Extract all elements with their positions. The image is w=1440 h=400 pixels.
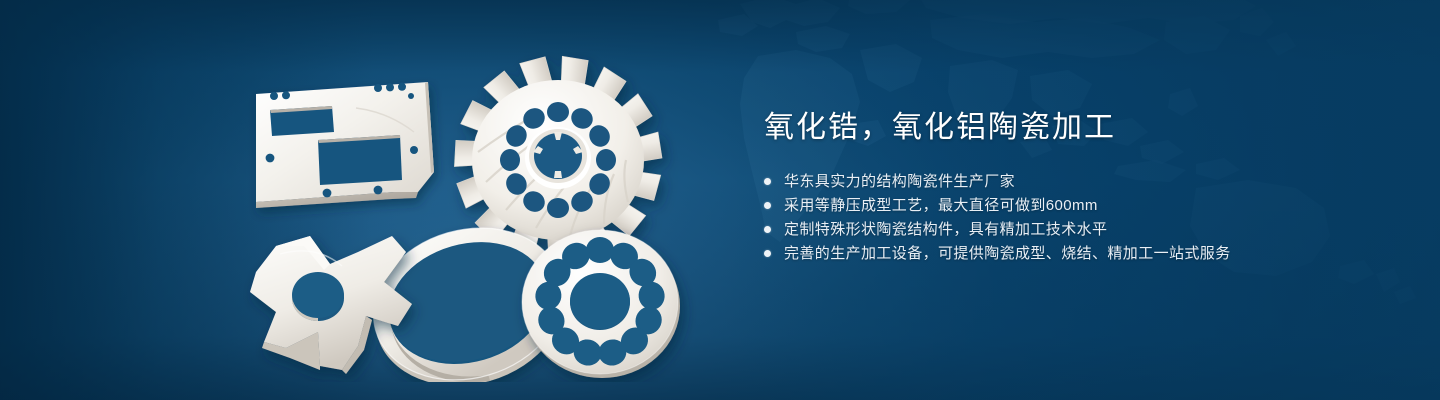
bullet-dot-icon (764, 178, 771, 185)
hero-banner: 氧化锆，氧化铝陶瓷加工 华东具实力的结构陶瓷件生产厂家 采用等静压成型工艺，最大… (0, 0, 1440, 400)
feature-text: 定制特殊形状陶瓷结构件，具有精加工技术水平 (784, 218, 1107, 241)
bullet-dot-icon (764, 250, 771, 257)
ceramic-parts-photo (228, 52, 708, 382)
list-item: 定制特殊形状陶瓷结构件，具有精加工技术水平 (764, 218, 1384, 241)
page-title: 氧化锆，氧化铝陶瓷加工 (764, 108, 1384, 148)
list-item: 完善的生产加工设备，可提供陶瓷成型、烧结、精加工一站式服务 (764, 242, 1384, 265)
feature-text: 完善的生产加工设备，可提供陶瓷成型、烧结、精加工一站式服务 (784, 242, 1231, 265)
bullet-dot-icon (764, 226, 771, 233)
feature-text: 采用等静压成型工艺，最大直径可做到600mm (784, 194, 1098, 217)
ceramic-perforated-disc-part (522, 230, 680, 378)
bullet-dot-icon (764, 202, 771, 209)
banner-text-block: 氧化锆，氧化铝陶瓷加工 华东具实力的结构陶瓷件生产厂家 采用等静压成型工艺，最大… (764, 108, 1384, 266)
list-item: 华东具实力的结构陶瓷件生产厂家 (764, 170, 1384, 193)
list-item: 采用等静压成型工艺，最大直径可做到600mm (764, 194, 1384, 217)
feature-list: 华东具实力的结构陶瓷件生产厂家 采用等静压成型工艺，最大直径可做到600mm 定… (764, 170, 1384, 265)
feature-text: 华东具实力的结构陶瓷件生产厂家 (784, 170, 1015, 193)
ceramic-plate-part (256, 82, 434, 208)
